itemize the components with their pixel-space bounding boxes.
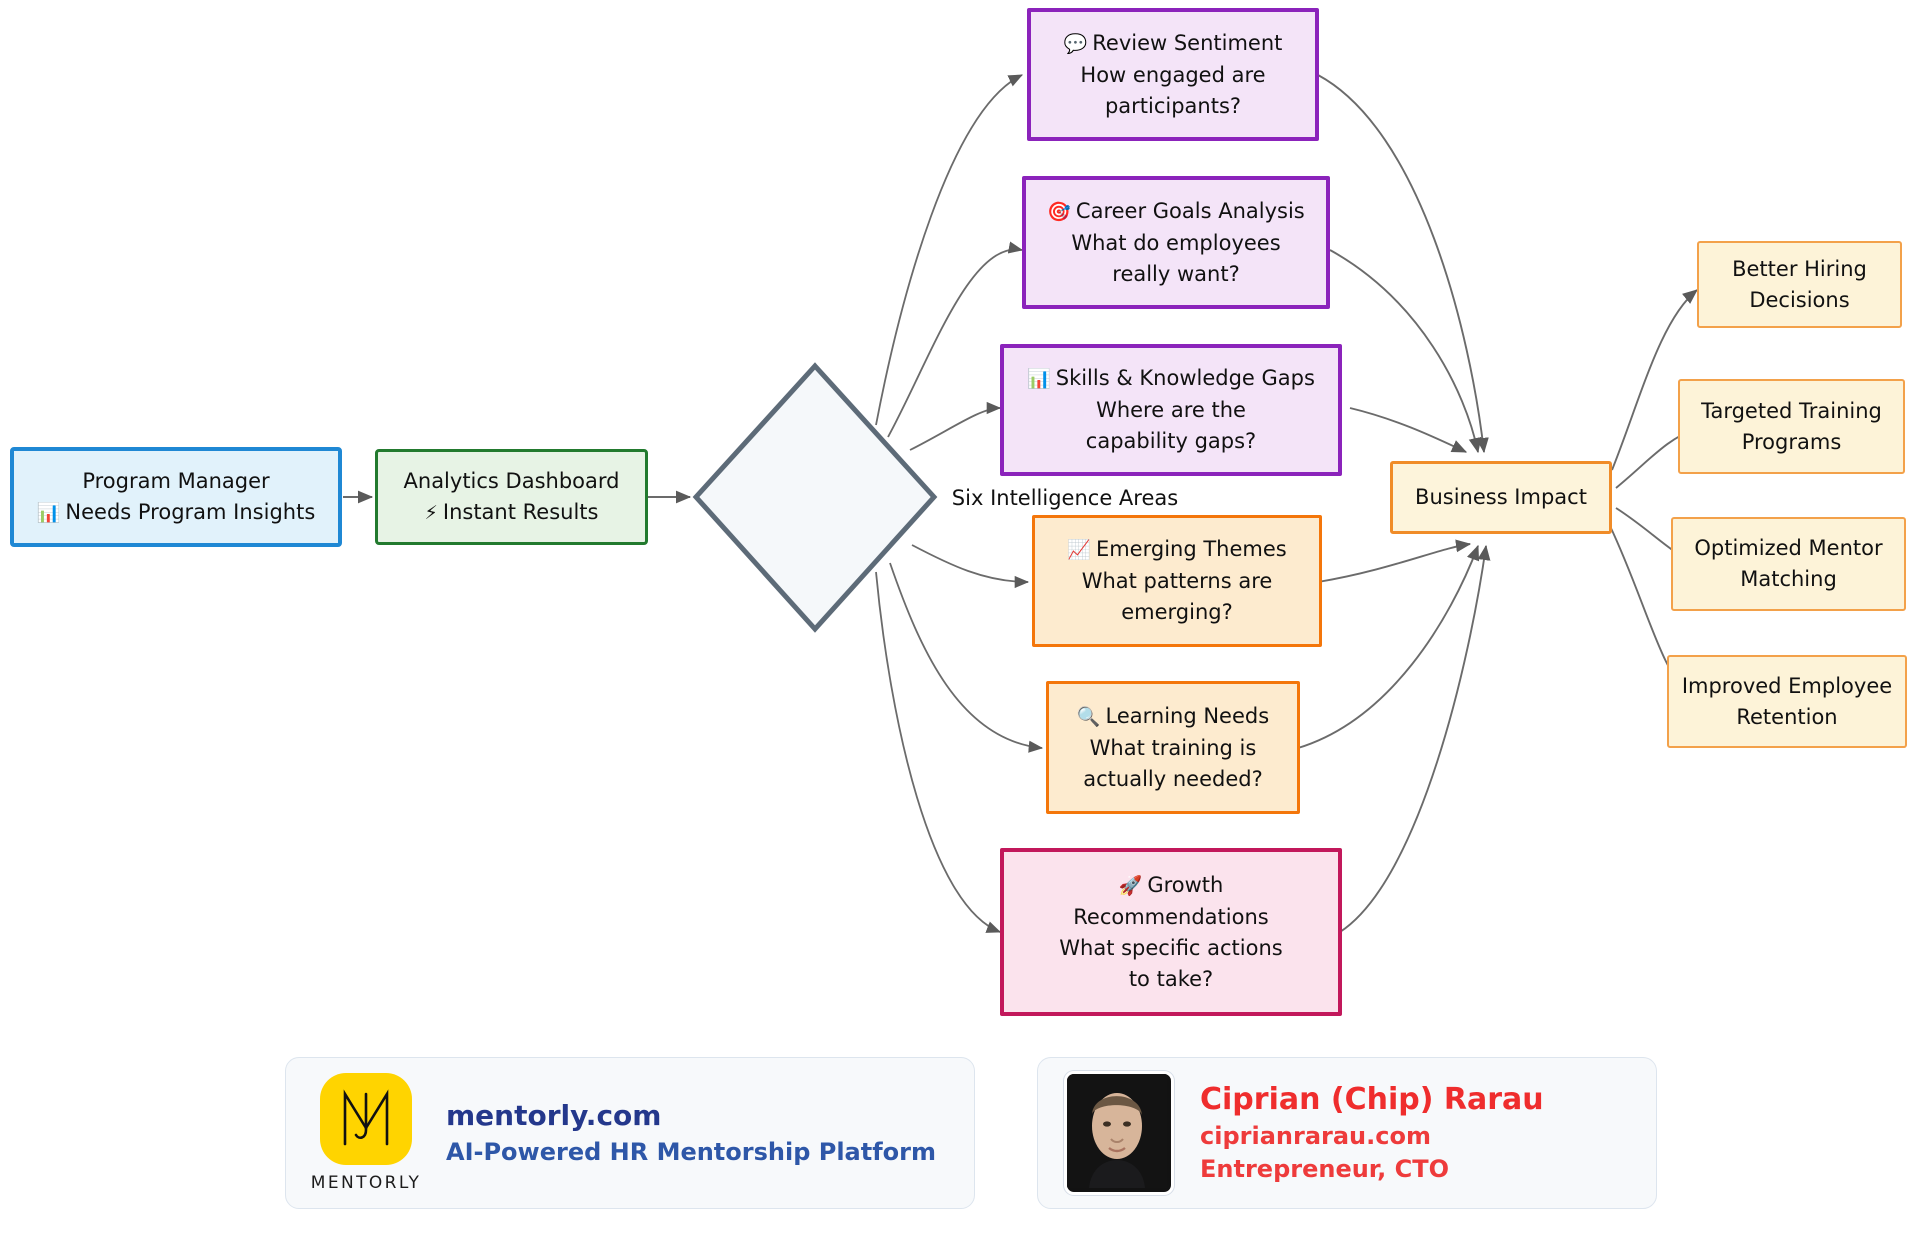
career-goals-title: Career Goals Analysis xyxy=(1076,199,1305,223)
lightning-icon: ⚡ xyxy=(425,502,438,524)
node-targeted-training-programs[interactable]: Targeted Training Programs xyxy=(1678,379,1905,474)
career-goals-question-line2: really want? xyxy=(1112,259,1239,290)
avatar-portrait-icon xyxy=(1067,1074,1167,1188)
chart-increasing-icon: 📈 xyxy=(1067,539,1091,561)
person-text-block: Ciprian (Chip) Rarau ciprianrarau.com En… xyxy=(1200,1080,1544,1186)
person-role: Entrepreneur, CTO xyxy=(1200,1153,1544,1186)
career-goals-title-row: 🎯Career Goals Analysis xyxy=(1047,196,1305,228)
node-better-hiring-decisions[interactable]: Better Hiring Decisions xyxy=(1697,241,1902,328)
node-emerging-themes[interactable]: 📈Emerging Themes What patterns are emerg… xyxy=(1032,515,1322,647)
review-sentiment-question-line1: How engaged are xyxy=(1080,60,1265,91)
business-impact-label: Business Impact xyxy=(1415,482,1587,513)
growth-title-line2: Recommendations xyxy=(1073,902,1268,933)
growth-title-row: 🚀Growth xyxy=(1119,870,1224,902)
analytics-dashboard-subtitle: Instant Results xyxy=(443,500,599,524)
magnifying-glass-icon: 🔍 xyxy=(1077,706,1101,728)
bar-chart-icon: 📊 xyxy=(37,502,61,524)
analytics-dashboard-title: Analytics Dashboard xyxy=(404,466,620,497)
program-manager-subtitle: Needs Program Insights xyxy=(65,500,315,524)
bar-chart-icon: 📊 xyxy=(1027,368,1051,390)
node-optimized-mentor-matching[interactable]: Optimized Mentor Matching xyxy=(1671,517,1906,611)
growth-title: Growth xyxy=(1147,873,1223,897)
emerging-themes-title-row: 📈Emerging Themes xyxy=(1067,534,1286,566)
node-six-intelligence-areas[interactable]: Six Intelligence Areas xyxy=(690,360,940,635)
skills-gaps-title-row: 📊Skills & Knowledge Gaps xyxy=(1027,363,1315,395)
review-sentiment-title: Review Sentiment xyxy=(1092,31,1282,55)
analytics-dashboard-subtitle-row: ⚡Instant Results xyxy=(425,497,599,529)
program-manager-subtitle-row: 📊Needs Program Insights xyxy=(37,497,316,529)
node-career-goals-analysis[interactable]: 🎯Career Goals Analysis What do employees… xyxy=(1022,176,1330,309)
emerging-themes-title: Emerging Themes xyxy=(1096,537,1287,561)
node-review-sentiment[interactable]: 💬Review Sentiment How engaged are partic… xyxy=(1027,8,1319,141)
node-learning-needs[interactable]: 🔍Learning Needs What training is actuall… xyxy=(1046,681,1300,814)
mentorly-logo-block: MENTORLY xyxy=(312,1073,420,1193)
growth-question-line1: What specific actions xyxy=(1059,933,1282,964)
skills-gaps-question-line1: Where are the xyxy=(1096,395,1246,426)
growth-question-line2: to take? xyxy=(1129,964,1213,995)
node-program-manager[interactable]: Program Manager 📊Needs Program Insights xyxy=(10,447,342,547)
node-analytics-dashboard[interactable]: Analytics Dashboard ⚡Instant Results xyxy=(375,449,648,545)
node-improved-employee-retention[interactable]: Improved Employee Retention xyxy=(1667,655,1907,748)
mentorly-monogram-icon xyxy=(337,1088,395,1150)
diamond-shape xyxy=(690,360,940,635)
node-skills-knowledge-gaps[interactable]: 📊Skills & Knowledge Gaps Where are the c… xyxy=(1000,344,1342,476)
program-manager-title: Program Manager xyxy=(82,466,269,497)
emerging-themes-question-line2: emerging? xyxy=(1121,597,1233,628)
targeted-training-line2: Programs xyxy=(1742,427,1842,458)
skills-gaps-title: Skills & Knowledge Gaps xyxy=(1056,366,1315,390)
node-growth-recommendations[interactable]: 🚀Growth Recommendations What specific ac… xyxy=(1000,848,1342,1016)
review-sentiment-title-row: 💬Review Sentiment xyxy=(1064,28,1283,60)
targeted-training-line1: Targeted Training xyxy=(1701,396,1882,427)
person-brand-card[interactable]: Ciprian (Chip) Rarau ciprianrarau.com En… xyxy=(1037,1057,1657,1209)
learning-needs-title-row: 🔍Learning Needs xyxy=(1077,701,1269,733)
mentorly-title: mentorly.com xyxy=(446,1097,936,1135)
learning-needs-question-line2: actually needed? xyxy=(1083,764,1262,795)
person-name: Ciprian (Chip) Rarau xyxy=(1200,1080,1544,1120)
node-business-impact[interactable]: Business Impact xyxy=(1390,461,1612,534)
improved-retention-line2: Retention xyxy=(1736,702,1837,733)
mentorly-text-block: mentorly.com AI-Powered HR Mentorship Pl… xyxy=(446,1097,936,1169)
optimized-mentor-line2: Matching xyxy=(1740,564,1837,595)
six-intelligence-areas-label: Six Intelligence Areas xyxy=(940,486,1190,510)
skills-gaps-question-line2: capability gaps? xyxy=(1086,426,1256,457)
rocket-icon: 🚀 xyxy=(1119,875,1143,897)
person-website: ciprianrarau.com xyxy=(1200,1120,1544,1153)
mentorly-logo-icon xyxy=(320,1073,412,1165)
optimized-mentor-line1: Optimized Mentor xyxy=(1694,533,1882,564)
mentorly-brand-card[interactable]: MENTORLY mentorly.com AI-Powered HR Ment… xyxy=(285,1057,975,1209)
diagram-canvas: Program Manager 📊Needs Program Insights … xyxy=(0,0,1920,1241)
emerging-themes-question-line1: What patterns are xyxy=(1082,566,1273,597)
edge-layer xyxy=(0,0,1920,1241)
avatar xyxy=(1064,1071,1174,1195)
target-dart-icon: 🎯 xyxy=(1047,201,1071,223)
better-hiring-line1: Better Hiring xyxy=(1732,254,1867,285)
better-hiring-line2: Decisions xyxy=(1749,285,1849,316)
improved-retention-line1: Improved Employee xyxy=(1682,671,1892,702)
mentorly-subtitle: AI-Powered HR Mentorship Platform xyxy=(446,1135,936,1169)
learning-needs-question-line1: What training is xyxy=(1090,733,1257,764)
mentorly-wordmark: MENTORLY xyxy=(311,1173,422,1193)
review-sentiment-question-line2: participants? xyxy=(1105,91,1241,122)
speech-bubble-icon: 💬 xyxy=(1064,33,1088,55)
learning-needs-title: Learning Needs xyxy=(1106,704,1270,728)
career-goals-question-line1: What do employees xyxy=(1071,228,1280,259)
